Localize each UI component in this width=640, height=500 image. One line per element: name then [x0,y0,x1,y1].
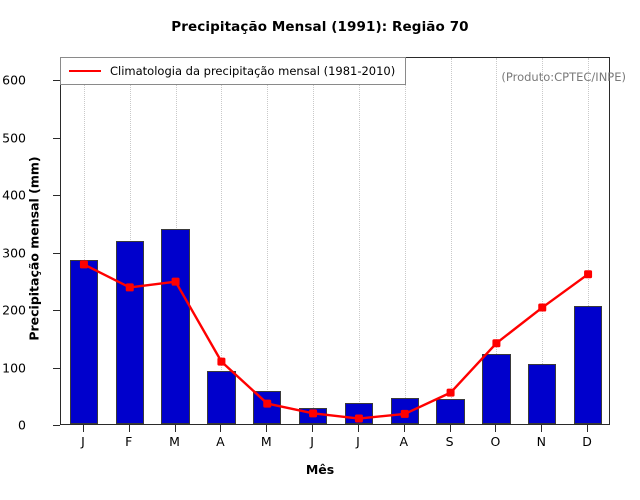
y-axis-tick-mark [53,310,60,311]
y-axis-tick-label: 0 [0,418,26,433]
x-axis-tick-mark [495,425,496,432]
precipitation-chart-figure: Precipitação Mensal (1991): Região 70 Pr… [0,0,640,500]
bar-j-0 [70,260,98,424]
y-axis-tick-mark [53,195,60,196]
x-axis-tick-mark [175,425,176,432]
x-axis-tick-label: D [567,434,607,449]
x-axis-tick-mark [312,425,313,432]
x-axis-tick-label: J [63,434,103,449]
y-axis-tick-label: 200 [0,303,26,318]
bar-f-1 [116,241,144,424]
x-axis-tick-mark [83,425,84,432]
producer-annotation: (Produto:CPTEC/INPE) [501,70,626,84]
y-axis-tick-mark [53,80,60,81]
x-axis-tick-mark [358,425,359,432]
bar-o-9 [482,354,510,424]
bar-a-3 [207,371,235,424]
x-axis-tick-mark [541,425,542,432]
legend-item-label: Climatologia da precipitação mensal (198… [110,64,395,78]
x-axis-tick-mark [220,425,221,432]
y-axis-tick-label: 400 [0,188,26,203]
bar-j-5 [299,408,327,424]
bar-m-4 [253,391,281,424]
x-axis-title: Mês [0,462,640,477]
y-axis-tick-mark [53,253,60,254]
plot-area [60,57,610,425]
bar-d-11 [574,306,602,424]
x-axis-tick-mark [587,425,588,432]
legend: Climatologia da precipitação mensal (198… [60,57,406,85]
y-axis-title: Precipitação mensal (mm) [27,129,42,369]
bar-j-6 [345,403,373,424]
x-axis-tick-label: M [155,434,195,449]
x-axis-tick-mark [129,425,130,432]
page-title: Precipitação Mensal (1991): Região 70 [0,19,640,35]
x-axis-tick-label: A [384,434,424,449]
bar-s-8 [436,399,464,424]
x-axis-tick-label: S [430,434,470,449]
y-axis-tick-label: 500 [0,130,26,145]
x-axis-tick-label: J [338,434,378,449]
x-axis-tick-label: M [246,434,286,449]
x-axis-tick-label: O [475,434,515,449]
x-axis-tick-label: N [521,434,561,449]
bar-n-10 [528,364,556,424]
x-axis-tick-mark [450,425,451,432]
x-axis-tick-label: J [292,434,332,449]
x-axis-tick-label: F [109,434,149,449]
y-axis-tick-mark [53,425,60,426]
y-axis-tick-label: 100 [0,360,26,375]
legend-line-swatch-icon [69,70,101,72]
y-axis-tick-label: 300 [0,245,26,260]
y-axis-tick-label: 600 [0,73,26,88]
bar-m-2 [161,229,189,424]
y-axis-tick-mark [53,138,60,139]
y-axis-tick-mark [53,368,60,369]
bar-a-7 [391,398,419,424]
x-axis-tick-mark [404,425,405,432]
x-axis-tick-label: A [200,434,240,449]
bar-series-monthly-precipitation [61,58,609,424]
x-axis-tick-mark [266,425,267,432]
